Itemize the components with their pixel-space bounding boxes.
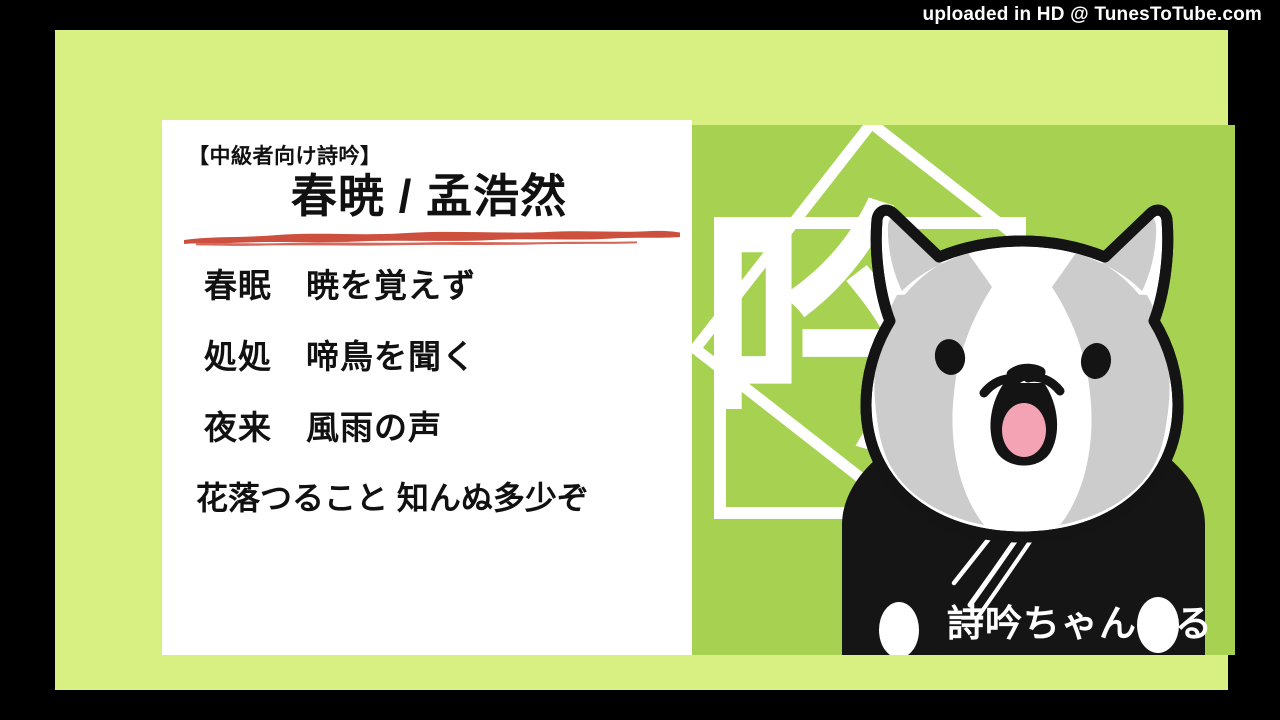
lyric-card: 【中級者向け詩吟】 春暁 / 孟浩然 春眠 暁を覚えず 処処 啼鳥を聞く 夜来 …: [162, 120, 692, 655]
green-canvas: 【中級者向け詩吟】 春暁 / 孟浩然 春眠 暁を覚えず 処処 啼鳥を聞く 夜来 …: [55, 30, 1228, 690]
page-title: 春暁 / 孟浩然: [186, 171, 672, 223]
video-thumbnail-stage: uploaded in HD @ TunesToTube.com 【中級者向け詩…: [0, 0, 1280, 720]
channel-name: 詩吟ちゃんねる: [947, 593, 1213, 647]
poem-line-2: 処処 啼鳥を聞く: [204, 340, 672, 373]
poem-body: 春眠 暁を覚えず 処処 啼鳥を聞く 夜来 風雨の声 花落つること 知んぬ多少ぞ: [186, 269, 672, 514]
cat-mascot: [692, 125, 1235, 655]
mascot-panel: 吟: [692, 125, 1235, 655]
poem-line-1: 春眠 暁を覚えず: [204, 269, 672, 302]
brush-underline: [182, 227, 682, 247]
cat-head: [866, 210, 1178, 537]
card-kicker: 【中級者向け詩吟】: [188, 146, 672, 167]
cat-tongue: [1002, 403, 1046, 457]
poem-line-4: 花落つること 知んぬ多少ぞ: [196, 482, 672, 514]
upload-banner: uploaded in HD @ TunesToTube.com: [0, 0, 1280, 30]
upload-banner-text: uploaded in HD @ TunesToTube.com: [923, 4, 1262, 26]
poem-line-3: 夜来 風雨の声: [204, 411, 672, 444]
